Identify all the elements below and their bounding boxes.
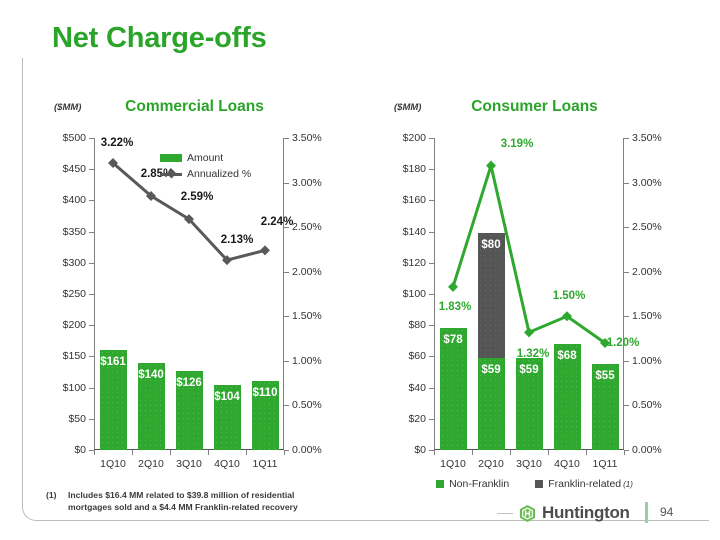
y2-tick [624,227,629,228]
y2-tick-label: 3.50% [292,132,322,144]
legend-item-annualized: Annualized % [160,168,251,180]
footnote: (1)Includes $16.4 MM related to $39.8 mi… [46,489,376,514]
y-tick-label: $180 [403,163,426,175]
y-tick-label: $60 [408,350,426,362]
page-number: 94 [660,505,673,519]
y2-tick [624,405,629,406]
y2-tick [284,183,289,184]
y-tick-label: $450 [63,163,86,175]
footer-divider [645,502,648,523]
y-tick-label: $200 [403,132,426,144]
x-tick [624,450,625,455]
footnote-marker: (1) [46,489,68,501]
y2-tick-label: 1.00% [632,355,662,367]
legend-consumer: Non-FranklinFranklin-related(1) [382,478,687,490]
y-tick-label: $250 [63,288,86,300]
y2-tick [624,272,629,273]
trend-line [453,166,605,343]
y-tick-label: $200 [63,319,86,331]
x-tick-label: 1Q10 [100,458,126,470]
y-tick-label: $400 [63,194,86,206]
line-marker [486,161,496,171]
y-tick-label: $80 [408,319,426,331]
y-tick-label: $50 [68,413,86,425]
line-value-label: 2.24% [261,216,294,228]
y-tick-label: $160 [403,194,426,206]
line-swatch-icon [160,169,182,179]
y2-tick-label: 3.00% [292,177,322,189]
footnote-line-1: Includes $16.4 MM related to $39.8 milli… [68,490,294,500]
chart-title-commercial: Commercial Loans [42,98,347,116]
plot-area-commercial: $0$50$100$150$200$250$300$350$400$450$50… [94,138,284,450]
y-tick-label: $500 [63,132,86,144]
line-marker [448,282,458,292]
x-tick-label: 3Q10 [176,458,202,470]
amount-swatch-icon [160,154,182,162]
legend-label-amount: Amount [187,152,223,164]
y2-tick-label: 0.50% [632,399,662,411]
line-value-label: 1.83% [439,301,472,313]
y-tick-label: $140 [403,226,426,238]
y2-tick-label: 2.50% [292,221,322,233]
x-tick-label: 3Q10 [516,458,542,470]
legend-commercial: Amount Annualized % [160,152,251,184]
x-tick-label: 2Q10 [478,458,504,470]
y2-tick-label: 1.50% [632,310,662,322]
legend-label: Non-Franklin [449,478,509,490]
y2-tick-label: 0.50% [292,399,322,411]
x-tick [586,450,587,455]
y-tick-label: $150 [63,350,86,362]
line-value-label: 3.19% [501,138,534,150]
y2-tick-label: 1.00% [292,355,322,367]
x-tick [246,450,247,455]
y2-tick-label: 2.00% [632,266,662,278]
x-tick [284,450,285,455]
x-tick [434,450,435,455]
slide: Net Charge-offs ($MM) Commercial Loans $… [0,0,720,540]
y-tick-label: $350 [63,226,86,238]
y-tick-label: $0 [74,444,86,456]
y2-tick [624,183,629,184]
page-title: Net Charge-offs [52,22,267,55]
y-tick-label: $300 [63,257,86,269]
legend-label-annualized: Annualized % [187,168,251,180]
legend-swatch-icon [436,480,444,488]
y2-tick [284,405,289,406]
chart-title-consumer: Consumer Loans [382,98,687,116]
y2-tick [284,272,289,273]
y2-tick-label: 3.00% [632,177,662,189]
brand-wordmark: Huntington [542,503,630,523]
x-tick [170,450,171,455]
x-tick-label: 4Q10 [214,458,240,470]
y-tick-label: $40 [408,382,426,394]
x-tick [94,450,95,455]
x-tick-label: 1Q11 [593,458,618,470]
chart-commercial-loans: ($MM) Commercial Loans $0$50$100$150$200… [42,90,347,490]
legend-label: Franklin-related [548,478,621,490]
footnote-line-2: mortgages sold and a $4.4 MM Franklin-re… [68,501,376,513]
line-series-consumer [434,138,624,450]
line-marker [260,245,270,255]
x-tick [510,450,511,455]
x-tick-label: 2Q10 [138,458,164,470]
y2-tick-label: 2.00% [292,266,322,278]
legend-swatch-icon [535,480,543,488]
legend-item-non-franklin: Non-Franklin [436,478,509,490]
x-tick [208,450,209,455]
line-value-label: 1.32% [517,348,550,360]
y2-tick [284,138,289,139]
y2-tick [624,138,629,139]
x-tick-label: 1Q10 [440,458,466,470]
plot-area-consumer: $0$20$40$60$80$100$120$140$160$180$2000.… [434,138,624,450]
y2-tick-label: 3.50% [632,132,662,144]
y-tick-label: $100 [403,288,426,300]
huntington-hexagon-icon [518,504,537,523]
legend-item-franklin-related: Franklin-related(1) [535,478,633,490]
x-tick-label: 4Q10 [554,458,580,470]
x-tick [472,450,473,455]
legend-item-amount: Amount [160,152,251,164]
y2-tick-label: 1.50% [292,310,322,322]
y2-tick-label: 0.00% [632,444,662,456]
y2-tick-label: 0.00% [292,444,322,456]
footer-rule [497,513,513,514]
y-tick-label: $0 [414,444,426,456]
legend-footnote-marker: (1) [623,480,633,489]
line-series-commercial [94,138,284,450]
y-tick-label: $100 [63,382,86,394]
line-marker [524,327,534,337]
x-tick [132,450,133,455]
line-value-label: 1.50% [553,290,586,302]
line-value-label: 2.59% [181,191,214,203]
line-value-label: 1.20% [607,337,640,349]
y2-tick [284,361,289,362]
y2-tick [624,361,629,362]
y2-tick [284,316,289,317]
y-tick-label: $120 [403,257,426,269]
y-tick-label: $20 [408,413,426,425]
y2-tick-label: 2.50% [632,221,662,233]
x-tick [548,450,549,455]
y2-tick [624,316,629,317]
brand-logo: Huntington [518,503,630,523]
line-value-label: 3.22% [101,137,134,149]
line-value-label: 2.13% [221,234,254,246]
chart-consumer-loans: ($MM) Consumer Loans $0$20$40$60$80$100$… [382,90,687,490]
x-tick-label: 1Q11 [253,458,278,470]
